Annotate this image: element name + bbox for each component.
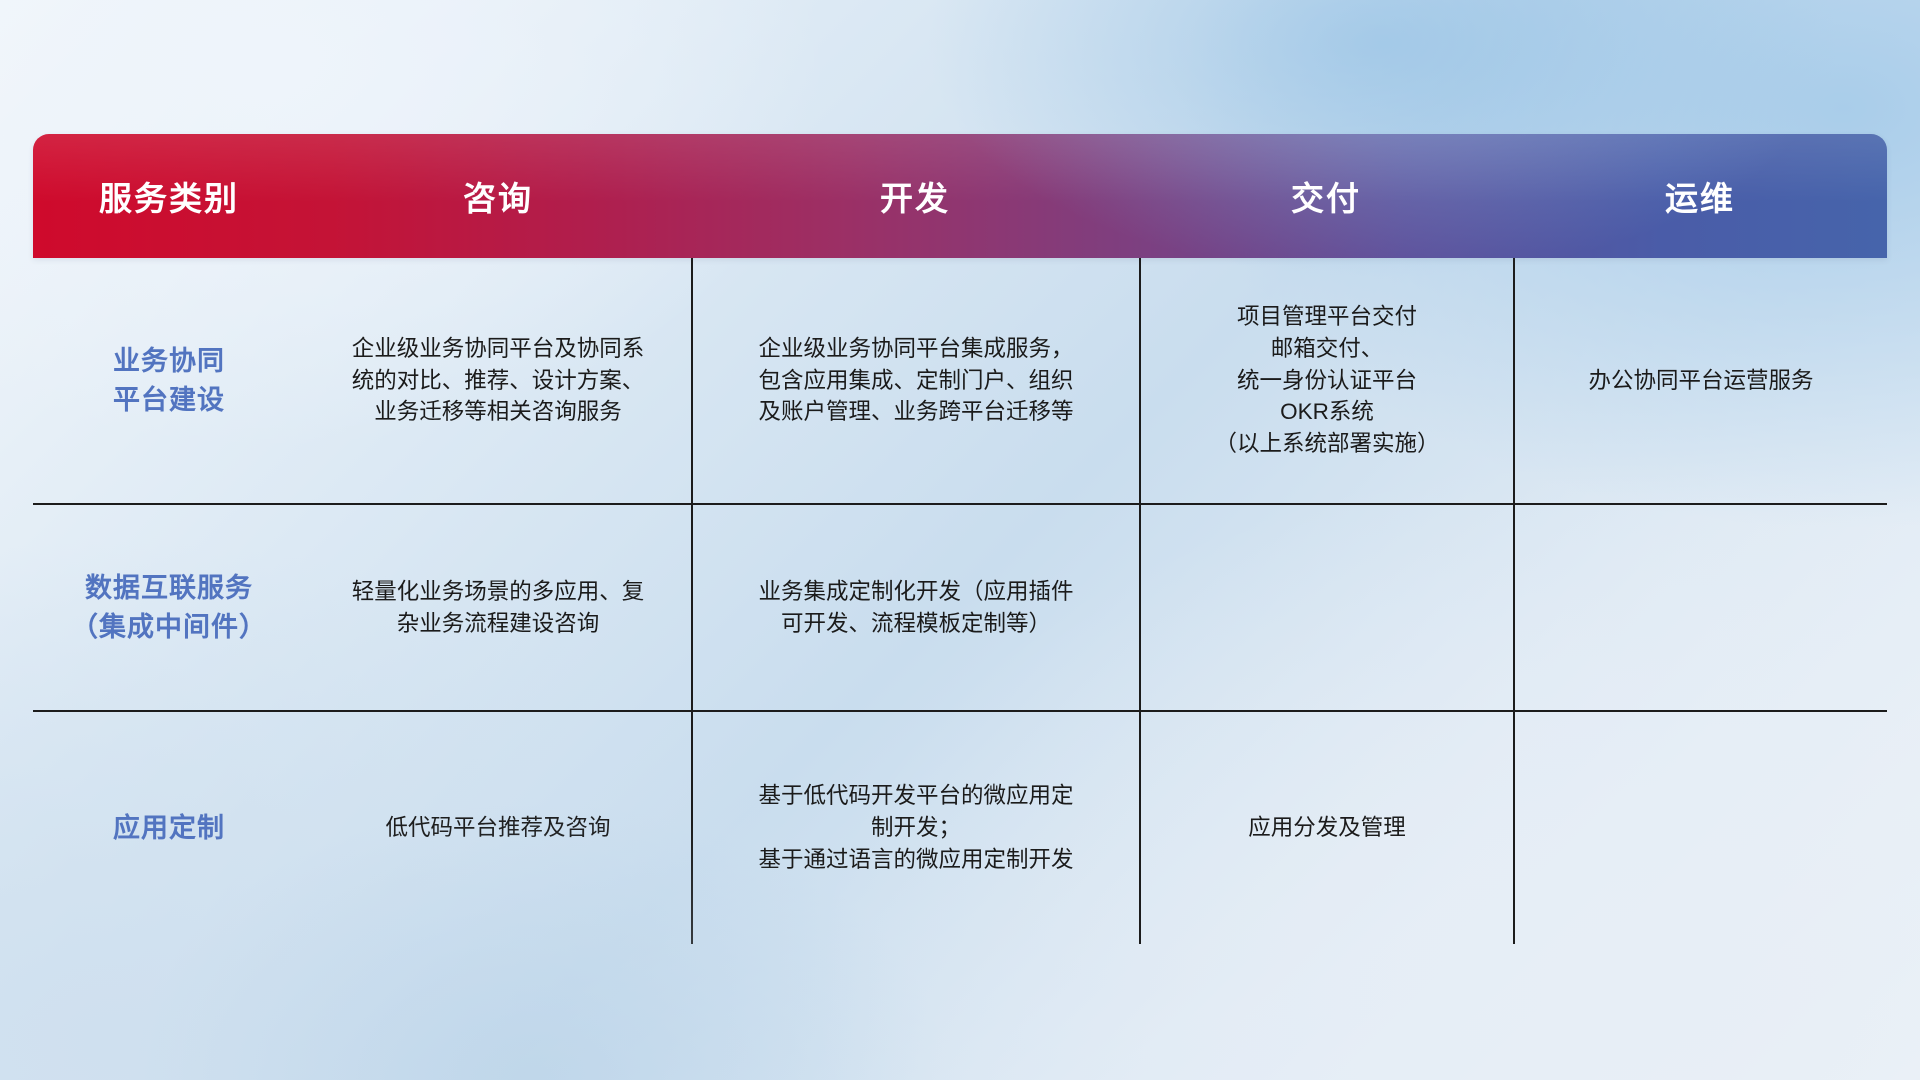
cell-operations: 办公协同平台运营服务 (1513, 258, 1887, 503)
column-header-delivery: 交付 (1139, 134, 1513, 258)
table-body: 业务协同 平台建设 企业级业务协同平台及协同系 统的对比、推荐、设计方案、 业务… (33, 258, 1887, 944)
cell-consulting: 低代码平台推荐及咨询 (305, 712, 691, 944)
cell-category: 应用定制 (33, 712, 305, 944)
cell-consulting: 轻量化业务场景的多应用、复 杂业务流程建设咨询 (305, 505, 691, 710)
column-header-development: 开发 (691, 134, 1139, 258)
column-header-service-category: 服务类别 (33, 134, 305, 258)
cell-category: 数据互联服务 （集成中间件） (33, 505, 305, 710)
cell-operations (1513, 505, 1887, 710)
table-header-row: 服务类别 咨询 开发 交付 运维 (33, 134, 1887, 258)
cell-development: 企业级业务协同平台集成服务， 包含应用集成、定制门户、组织 及账户管理、业务跨平… (691, 258, 1139, 503)
slide-canvas: 服务类别 咨询 开发 交付 运维 业务协同 平台建设 企业级业务协同平台及协同系… (0, 0, 1920, 1080)
cell-consulting: 企业级业务协同平台及协同系 统的对比、推荐、设计方案、 业务迁移等相关咨询服务 (305, 258, 691, 503)
cell-delivery: 项目管理平台交付 邮箱交付、 统一身份认证平台 OKR系统 （以上系统部署实施） (1139, 258, 1513, 503)
table-row: 应用定制 低代码平台推荐及咨询 基于低代码开发平台的微应用定 制开发； 基于通过… (33, 710, 1887, 944)
service-category-table: 服务类别 咨询 开发 交付 运维 业务协同 平台建设 企业级业务协同平台及协同系… (33, 134, 1887, 954)
cell-category: 业务协同 平台建设 (33, 258, 305, 503)
cell-development: 业务集成定制化开发（应用插件 可开发、流程模板定制等） (691, 505, 1139, 710)
column-header-operations: 运维 (1513, 134, 1887, 258)
cell-operations (1513, 712, 1887, 944)
cell-delivery (1139, 505, 1513, 710)
column-header-consulting: 咨询 (305, 134, 691, 258)
cell-development: 基于低代码开发平台的微应用定 制开发； 基于通过语言的微应用定制开发 (691, 712, 1139, 944)
cell-delivery: 应用分发及管理 (1139, 712, 1513, 944)
table-row: 数据互联服务 （集成中间件） 轻量化业务场景的多应用、复 杂业务流程建设咨询 业… (33, 503, 1887, 710)
table-row: 业务协同 平台建设 企业级业务协同平台及协同系 统的对比、推荐、设计方案、 业务… (33, 258, 1887, 503)
